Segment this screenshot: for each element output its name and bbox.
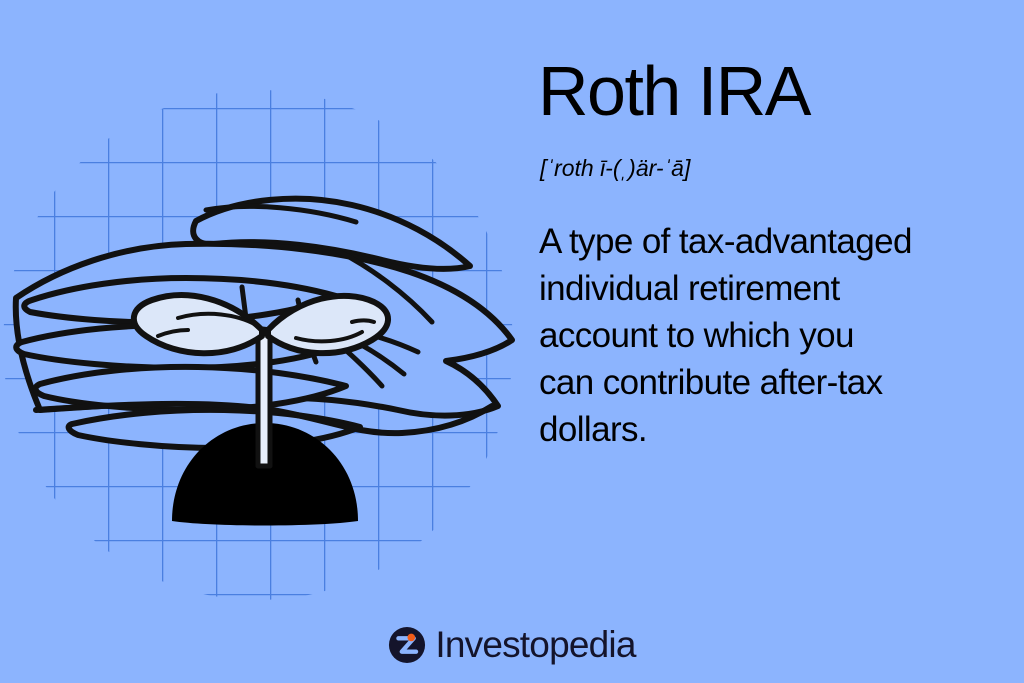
definition-line: A type of tax-advantaged	[539, 218, 999, 265]
definition-text: A type of tax-advantaged individual reti…	[539, 218, 999, 453]
sprout-stem	[258, 330, 270, 466]
infographic-canvas: Roth IRA [ˈroth ī-(ˌ)är-ˈā] A type of ta…	[0, 0, 1024, 683]
investopedia-wordmark: Investopedia	[435, 626, 635, 664]
page-title: Roth IRA	[538, 52, 1008, 130]
definition-line: account to which you	[539, 312, 999, 359]
hand-protecting-sprout-illustration	[0, 0, 520, 620]
definition-line: can contribute after-tax	[539, 359, 999, 406]
investopedia-logo-icon	[388, 626, 426, 664]
definition-line: individual retirement	[539, 265, 999, 312]
definition-line: dollars.	[539, 406, 999, 453]
investopedia-logo: Investopedia	[0, 626, 1024, 664]
pronunciation-text: [ˈroth ī-(ˌ)är-ˈā]	[540, 154, 1008, 182]
definition-panel: Roth IRA [ˈroth ī-(ˌ)är-ˈā] A type of ta…	[538, 52, 1008, 453]
